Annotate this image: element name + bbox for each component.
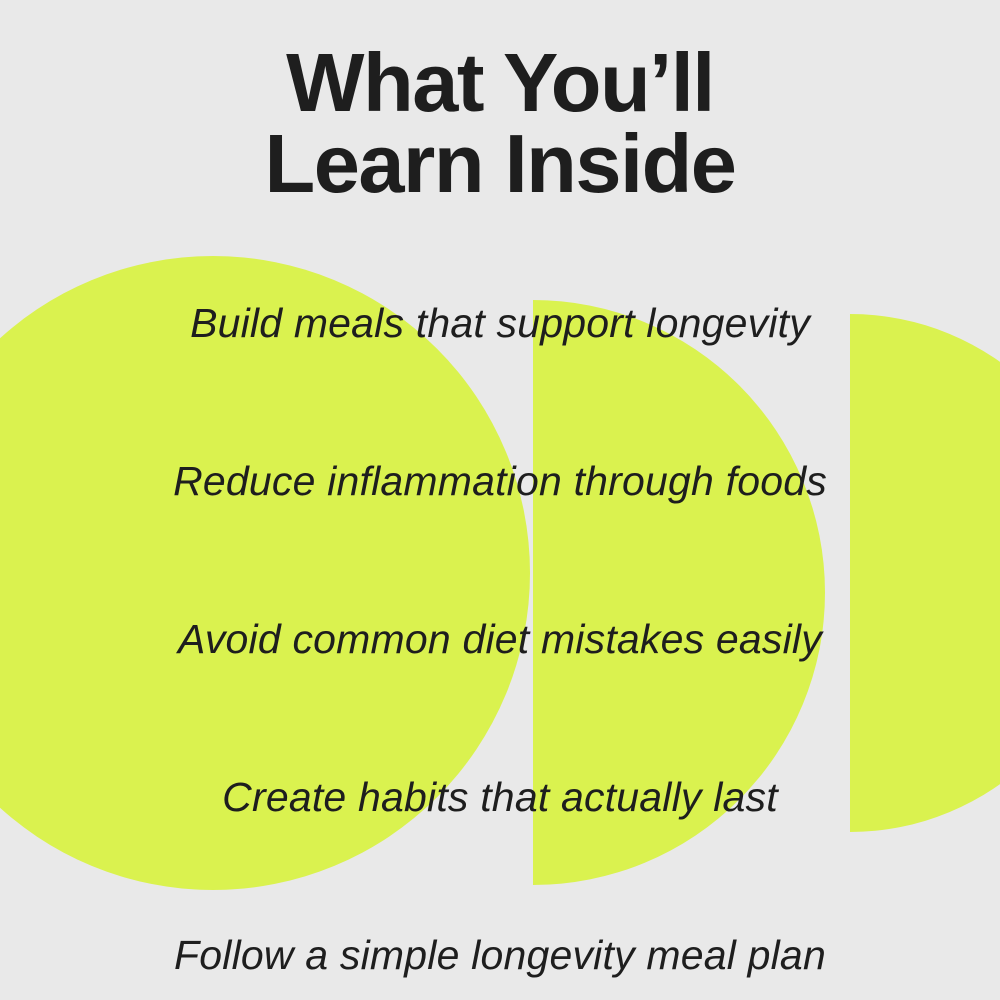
benefit-list-item-2: Reduce inflammation through foods	[0, 403, 1000, 561]
benefit-list-item-3: Avoid common diet mistakes easily	[0, 561, 1000, 719]
benefit-list-item-4: Create habits that actually last	[0, 719, 1000, 877]
page-title-line-1: What You’ll	[80, 42, 920, 123]
poster-canvas: What You’ll Learn Inside Build meals tha…	[0, 0, 1000, 1000]
benefit-text-4: Create habits that actually last	[222, 775, 778, 820]
benefit-list-item-5: Follow a simple longevity meal plan	[0, 877, 1000, 1000]
benefit-text-1: Build meals that support longevity	[190, 301, 810, 346]
benefit-list-item-1: Build meals that support longevity	[0, 245, 1000, 403]
page-title-line-2: Learn Inside	[80, 123, 920, 204]
benefit-text-2: Reduce inflammation through foods	[173, 459, 827, 504]
page-title: What You’ll Learn Inside	[0, 42, 1000, 205]
benefit-text-5: Follow a simple longevity meal plan	[174, 933, 826, 978]
benefit-list: Build meals that support longevity Reduc…	[0, 245, 1000, 1000]
content-layer: What You’ll Learn Inside Build meals tha…	[0, 0, 1000, 1000]
benefit-text-3: Avoid common diet mistakes easily	[178, 617, 822, 662]
